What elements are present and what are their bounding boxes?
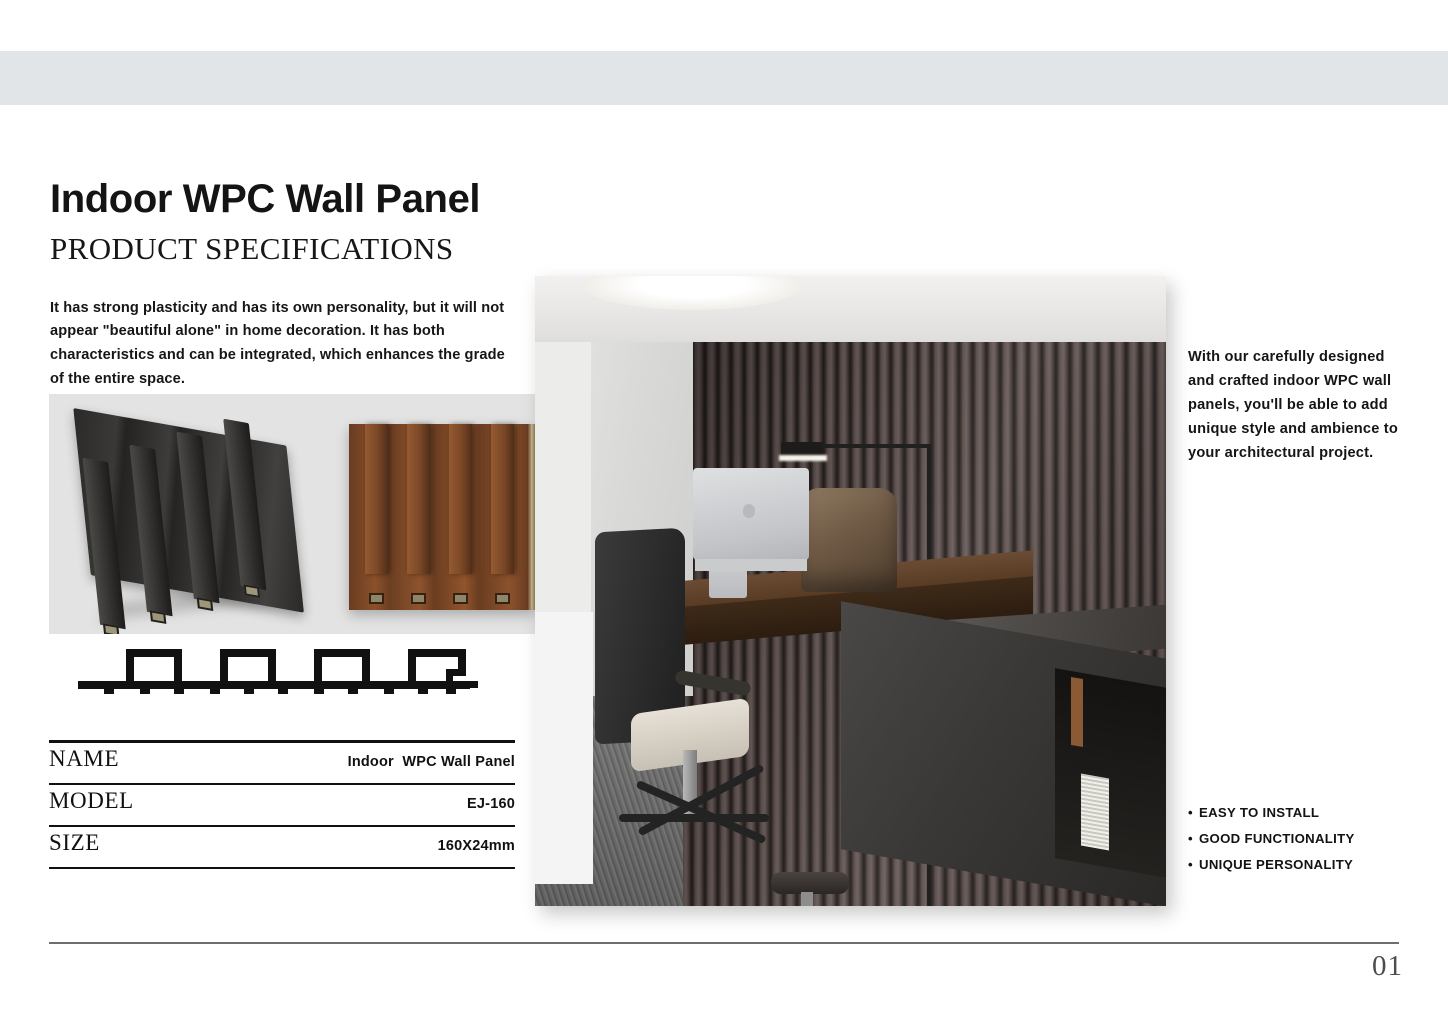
spec-label-name: NAME — [49, 746, 119, 772]
panel-rib — [365, 424, 388, 574]
page-title: Indoor WPC Wall Panel — [50, 177, 480, 221]
intro-paragraph: It has strong plasticity and has its own… — [50, 297, 520, 392]
feature-label: EASY TO INSTALL — [1199, 805, 1319, 820]
brown-wood-grain-fluted-wpc-panel-photo — [349, 424, 535, 610]
panel-rib — [449, 424, 472, 574]
stool-seat — [771, 872, 849, 894]
page-number: 01 — [1372, 950, 1403, 983]
feature-label: GOOD FUNCTIONALITY — [1199, 831, 1355, 846]
spec-value-model: EJ-160 — [467, 796, 515, 812]
side-desk-accent — [1071, 677, 1083, 747]
spec-label-model: MODEL — [49, 788, 134, 814]
table-row: MODEL EJ-160 — [49, 785, 515, 827]
panel-rib — [491, 424, 514, 574]
spec-value-size: 160X24mm — [438, 838, 515, 854]
feature-list: •EASY TO INSTALL •GOOD FUNCTIONALITY •UN… — [1188, 800, 1418, 878]
list-item: •UNIQUE PERSONALITY — [1188, 852, 1418, 878]
imac-base-edge — [695, 559, 807, 571]
list-item: •GOOD FUNCTIONALITY — [1188, 826, 1418, 852]
panel-rib — [407, 424, 430, 574]
apple-logo-icon — [743, 504, 755, 518]
list-item: •EASY TO INSTALL — [1188, 800, 1418, 826]
shelf-documents — [1081, 774, 1109, 851]
bullet-icon: • — [1188, 852, 1199, 878]
panel-edge — [527, 424, 535, 610]
footer-divider — [49, 942, 1399, 944]
floor-lamp-head — [781, 442, 823, 456]
foreground-panel — [535, 612, 593, 884]
bullet-icon: • — [1188, 800, 1199, 826]
stool-post — [801, 892, 813, 906]
page-subtitle: PRODUCT SPECIFICATIONS — [50, 231, 454, 267]
floor-lamp-glow — [779, 455, 827, 461]
product-images-panel — [49, 394, 575, 634]
bullet-icon: • — [1188, 826, 1199, 852]
product-spec-table: NAME Indoor WPC Wall Panel MODEL EJ-160 … — [49, 740, 515, 869]
marketing-paragraph: With our carefully designed and crafted … — [1188, 345, 1404, 466]
table-row: SIZE 160X24mm — [49, 827, 515, 869]
spec-label-size: SIZE — [49, 830, 100, 856]
black-fluted-wpc-panel-photo — [75, 403, 310, 624]
top-decorative-band — [0, 51, 1448, 105]
leather-executive-chair — [801, 488, 897, 592]
table-row: NAME Indoor WPC Wall Panel — [49, 743, 515, 785]
panel-cross-section-profile — [78, 643, 478, 701]
spec-value-name: Indoor WPC Wall Panel — [348, 754, 515, 770]
task-chair-base-leg — [619, 814, 769, 822]
office-interior-with-wpc-slat-wall — [535, 276, 1166, 906]
feature-label: UNIQUE PERSONALITY — [1199, 857, 1353, 872]
